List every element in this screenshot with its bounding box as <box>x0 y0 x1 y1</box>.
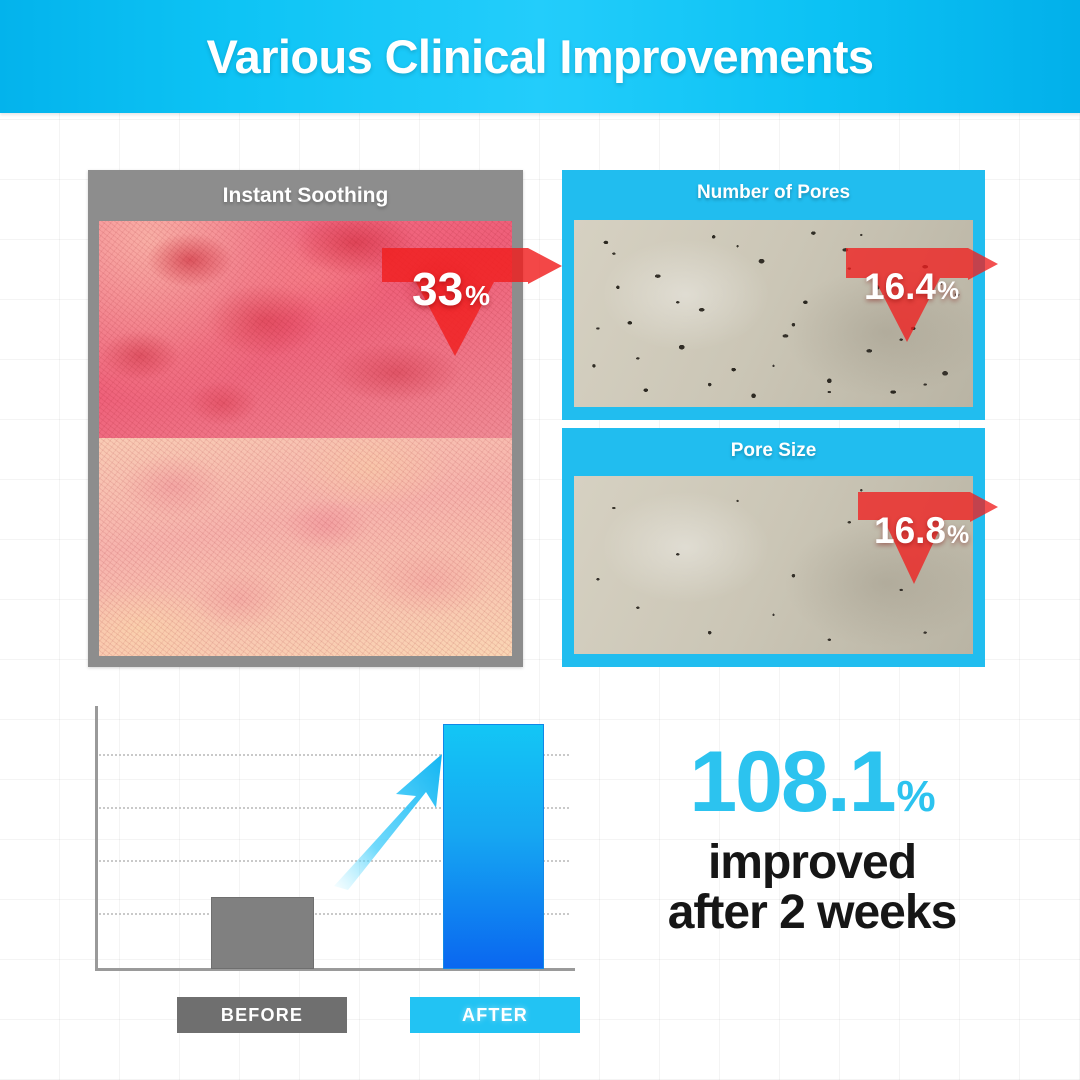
stat-value-row: 108.1 % <box>612 742 1012 824</box>
stat-improvement-soothing: 33 % <box>412 262 490 316</box>
legend-after: AFTER <box>410 997 580 1033</box>
before-after-bar-chart <box>95 706 575 972</box>
soothing-value: 33 <box>412 262 463 316</box>
stat-improvement-pores: 16.4 % <box>864 266 959 308</box>
header-banner: Various Clinical Improvements <box>0 0 1080 113</box>
stat-improvement-pore-size: 16.8 % <box>874 510 969 552</box>
pores-percent-sign: % <box>937 277 959 306</box>
pore-size-value: 16.8 <box>874 510 946 552</box>
bar-before <box>211 897 314 969</box>
legend-before-label: BEFORE <box>221 1005 303 1026</box>
panel-instant-soothing: Instant Soothing <box>88 170 523 667</box>
skin-grain-texture <box>99 438 512 656</box>
stat-value-number: 108.1 <box>689 742 894 824</box>
improvement-stat-block: 108.1 % improved after 2 weeks <box>612 742 1012 938</box>
page-title: Various Clinical Improvements <box>207 29 874 84</box>
soothing-percent-sign: % <box>465 280 490 312</box>
pore-size-percent-sign: % <box>947 521 969 550</box>
chart-y-axis <box>95 706 98 970</box>
panel-title-number-of-pores: Number of Pores <box>562 182 985 204</box>
stat-percent-sign: % <box>897 776 935 818</box>
stat-caption-line-2: after 2 weeks <box>612 888 1012 938</box>
legend-after-label: AFTER <box>462 1005 528 1026</box>
legend-before: BEFORE <box>177 997 347 1033</box>
stat-caption-line-1: improved <box>612 838 1012 888</box>
panel-title-pore-size: Pore Size <box>562 440 985 462</box>
growth-arrow-icon <box>330 750 460 890</box>
pores-value: 16.4 <box>864 266 936 308</box>
skin-photo-after <box>99 438 512 656</box>
panel-title-instant-soothing: Instant Soothing <box>88 184 523 208</box>
